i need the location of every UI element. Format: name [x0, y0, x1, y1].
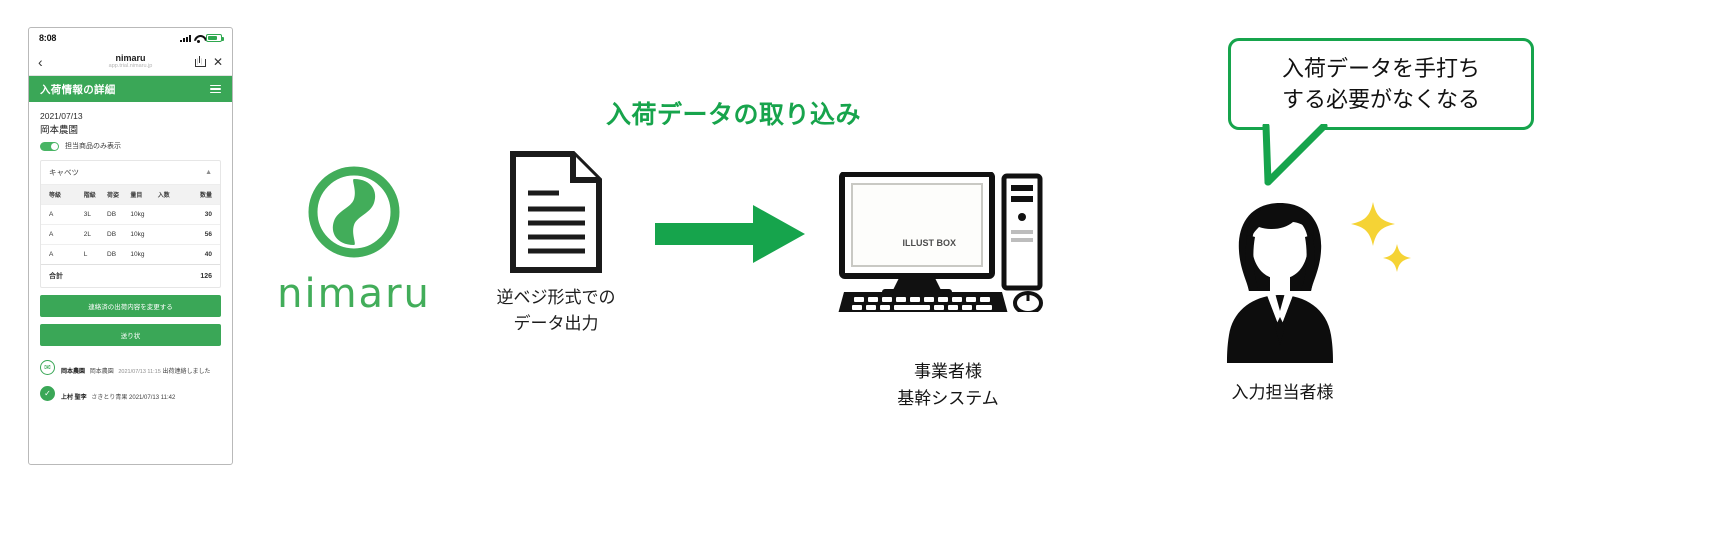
toggle-label: 担当商品のみ表示 [65, 141, 121, 151]
cell-weight: 10kg [130, 225, 157, 245]
shipment-table: 等級 階級 荷姿 量目 入数 数量 A 3L DB 10kg [41, 185, 220, 287]
battery-icon [206, 34, 222, 42]
cell-weight: 10kg [130, 205, 157, 225]
feed-message: 出荷連絡しました [162, 369, 210, 375]
shipment-date: 2021/07/13 [40, 110, 221, 123]
feed-org: さきとり青果 [91, 395, 127, 401]
chevron-left-icon[interactable]: ‹ [38, 55, 43, 69]
column-header-quantity: 数量 [181, 185, 220, 205]
nimaru-wordmark: nimaru [266, 271, 442, 317]
product-card: キャベツ ▲ 等級 階級 荷姿 量目 入数 数量 A [40, 160, 221, 288]
feed-timestamp: 2021/07/13 11:15 [118, 369, 160, 375]
product-name: キャベツ [49, 167, 79, 178]
computer-caption: 事業者様 基幹システム [838, 358, 1058, 412]
phone-status-bar: 8:08 [29, 28, 232, 48]
column-header-weight: 量目 [130, 185, 157, 205]
phone-mockup: 8:08 ‹ nimaru app.trial.nimaru.jp ✕ 入荷情報… [28, 27, 233, 465]
bubble-tail-icon [1262, 124, 1332, 186]
feed-timestamp: 2021/07/13 11:42 [129, 395, 175, 401]
page-header-bar: 入荷情報の詳細 [29, 76, 232, 102]
total-value: 126 [181, 265, 220, 288]
chevron-up-icon[interactable]: ▲ [205, 169, 212, 176]
nimaru-brand: nimaru [266, 162, 442, 317]
total-label: 合計 [41, 265, 84, 288]
document-file-icon [509, 150, 603, 274]
table-row: A L DB 10kg 40 [41, 245, 220, 265]
column-header-count: 入数 [158, 185, 181, 205]
monitor-screen-text: ILLUST BOX [903, 238, 957, 248]
person-caption: 入力担当者様 [1175, 378, 1390, 403]
document-block: 逆ベジ形式での データ出力 [466, 150, 646, 337]
feed-org: 岡本農園 [90, 369, 114, 375]
table-header-row: 等級 階級 荷姿 量目 入数 数量 [41, 185, 220, 205]
cell-grade: A [41, 225, 84, 245]
feed-name: 上村 聖李 [61, 395, 87, 401]
close-icon[interactable]: ✕ [213, 56, 223, 68]
nimaru-swirl-logo-icon [304, 162, 404, 262]
product-card-header[interactable]: キャベツ ▲ [41, 161, 220, 185]
cell-grade: A [41, 245, 84, 265]
table-total-row: 合計 126 [41, 265, 220, 288]
status-time: 8:08 [39, 33, 56, 43]
cell-packaging: DB [107, 205, 130, 225]
hamburger-menu-icon[interactable] [210, 83, 221, 95]
cell-quantity: 56 [181, 225, 220, 245]
total-spacer [158, 265, 181, 288]
document-caption-line2: データ出力 [466, 311, 646, 337]
shipment-note-icon: ✉ [40, 360, 55, 375]
cell-packaging: DB [107, 245, 130, 265]
column-header-packaging: 荷姿 [107, 185, 130, 205]
cell-count [158, 205, 181, 225]
column-header-class: 階級 [84, 185, 107, 205]
cell-class: 3L [84, 205, 107, 225]
list-item: ✓ 上村 聖李 さきとり青果 2021/07/13 11:42 [40, 382, 221, 408]
computer-caption-line2: 基幹システム [838, 385, 1058, 412]
person-illustration [1215, 195, 1345, 370]
total-spacer [84, 265, 107, 288]
table-row: A 2L DB 10kg 56 [41, 225, 220, 245]
computer-caption-line1: 事業者様 [838, 358, 1058, 385]
check-circle-icon: ✓ [40, 386, 55, 401]
change-shipment-button[interactable]: 連絡済の出荷内容を変更する [40, 295, 221, 317]
share-icon[interactable] [195, 56, 204, 67]
list-item: ✉ 岡本農園 岡本農園 2021/07/13 11:15 出荷連絡しました [40, 356, 221, 382]
speech-bubble-text: 入荷データを手打ち する必要がなくなる [1282, 53, 1480, 115]
table-row: A 3L DB 10kg 30 [41, 205, 220, 225]
assigned-products-toggle[interactable] [40, 142, 59, 151]
cell-weight: 10kg [130, 245, 157, 265]
speech-bubble: 入荷データを手打ち する必要がなくなる [1228, 38, 1534, 130]
filter-toggle-row[interactable]: 担当商品のみ表示 [40, 141, 221, 151]
document-caption-line1: 逆ベジ形式での [466, 285, 646, 311]
wifi-icon [194, 35, 203, 42]
flow-arrow [655, 205, 805, 268]
feed-name: 岡本農園 [61, 369, 85, 375]
computer-illustration: ILLUST BOX [838, 172, 1058, 317]
desktop-computer-icon: ILLUST BOX [838, 172, 1058, 312]
cell-quantity: 30 [181, 205, 220, 225]
cell-grade: A [41, 205, 84, 225]
document-caption: 逆ベジ形式での データ出力 [466, 285, 646, 337]
cell-quantity: 40 [181, 245, 220, 265]
cell-count [158, 225, 181, 245]
cell-class: 2L [84, 225, 107, 245]
person-silhouette-icon [1215, 195, 1345, 365]
cell-packaging: DB [107, 225, 130, 245]
farm-name: 岡本農園 [40, 123, 221, 138]
right-arrow-icon [655, 205, 805, 263]
column-header-grade: 等級 [41, 185, 84, 205]
invoice-button[interactable]: 送り状 [40, 324, 221, 346]
cell-count [158, 245, 181, 265]
activity-feed: ✉ 岡本農園 岡本農園 2021/07/13 11:15 出荷連絡しました ✓ … [40, 356, 221, 408]
sparkle-icon [1345, 200, 1415, 280]
page-title: 入荷情報の詳細 [40, 82, 116, 97]
diagram-heading: 入荷データの取り込み [606, 95, 861, 131]
total-spacer [107, 265, 130, 288]
phone-nav-bar: ‹ nimaru app.trial.nimaru.jp ✕ [29, 48, 232, 76]
total-spacer [130, 265, 157, 288]
cell-class: L [84, 245, 107, 265]
cellular-bars-icon [180, 35, 191, 42]
